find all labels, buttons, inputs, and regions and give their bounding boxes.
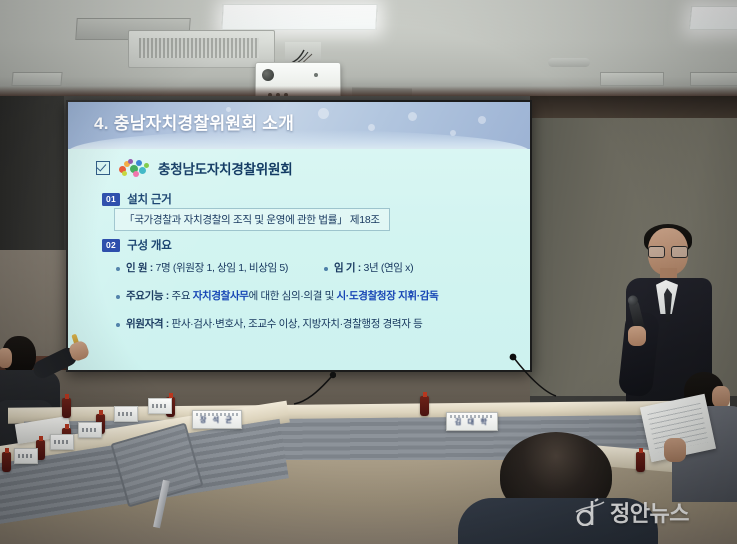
news-watermark: 정안뉴스 — [575, 496, 689, 528]
attendee-left-face — [0, 348, 12, 368]
news-watermark-text: 정안뉴스 — [610, 496, 689, 528]
checkbox-icon — [96, 161, 110, 175]
bullet-dot-icon — [116, 295, 120, 299]
law-citation-box: 「국가경찰과 자치경찰의 조직 및 운영에 관한 법률」 제18조 — [114, 208, 390, 231]
bullet-term-text: 임 기 : 3년 (연임 x) — [334, 262, 413, 275]
section-02-header: 02 구성 개요 — [102, 237, 172, 253]
nameplate-text: 김 대 학 — [455, 417, 489, 427]
ceiling-speaker — [548, 58, 590, 67]
folding-chair — [118, 432, 196, 528]
jeongan-news-logo-icon — [575, 498, 605, 526]
ceiling-light-panel — [221, 4, 377, 30]
section-02-title: 구성 개요 — [127, 237, 172, 253]
slide-header-band: 4. 충남자치경찰위원회 소개 — [68, 102, 530, 149]
drink-bottle — [420, 396, 429, 416]
slide-body: 충청남도자치경찰위원회 01 설치 근거 「국가경찰과 자치경찰의 조직 및 운… — [68, 149, 530, 370]
projector-indicator — [314, 73, 318, 77]
ceiling-air-conditioner — [128, 30, 275, 68]
ceiling-vent — [11, 72, 62, 86]
place-card — [78, 422, 102, 438]
bullet-qualification: 위원자격 : 판사·검사·변호사, 조교수 이상, 지방자치·경찰행정 경력자 … — [116, 318, 422, 331]
bullet-term-label: 임 기 : — [334, 262, 363, 274]
ceiling-vent — [600, 72, 664, 86]
bullet-personnel-text: 인 원 : 7명 (위원장 1, 상임 1, 비상임 5) — [126, 262, 288, 275]
bullet-dot-icon — [324, 267, 328, 271]
gooseneck-microphone — [292, 372, 336, 406]
bullet-personnel-label: 인 원 : — [126, 262, 155, 274]
bullet-dot-icon — [116, 323, 120, 327]
decorative-bubble — [318, 108, 329, 119]
bullet-functions-label: 주요기능 : — [126, 290, 172, 302]
decorative-bubble — [368, 124, 375, 131]
bullet-functions-highlight-1: 자치경찰사무 — [193, 290, 249, 302]
place-card — [148, 398, 172, 414]
bullet-functions: 주요기능 : 주요 자치경찰사무에 대한 심의·의결 및 시·도경찰청장 지휘·… — [116, 290, 438, 303]
photo-scene: 4. 충남자치경찰위원회 소개 — [0, 0, 737, 544]
projection-screen: 4. 충남자치경찰위원회 소개 — [66, 100, 532, 372]
bullet-qualification-text: 위원자격 : 판사·검사·변호사, 조교수 이상, 지방자치·경찰행정 경력자 … — [126, 318, 422, 331]
place-card — [50, 434, 74, 450]
bullet-dot-icon — [116, 267, 120, 271]
bullet-qualification-label: 위원자격 : — [126, 318, 172, 330]
projector-lens — [262, 69, 274, 81]
organization-name: 충청남도자치경찰위원회 — [158, 158, 292, 178]
section-01-header: 01 설치 근거 — [102, 191, 172, 207]
ceiling-light-panel — [689, 6, 737, 30]
slide-title: 4. 충남자치경찰위원회 소개 — [94, 109, 294, 134]
nameplate: 김 대 학 — [446, 412, 498, 431]
slide-content: 4. 충남자치경찰위원회 소개 — [68, 102, 530, 370]
eyeglasses-icon — [648, 246, 686, 256]
section-01-title: 설치 근거 — [127, 191, 172, 207]
bullet-functions-p2: 에 대한 심의·의결 및 — [249, 290, 337, 302]
gooseneck-microphone — [498, 352, 558, 398]
section-number-badge: 01 — [102, 193, 120, 206]
projected-slide: 4. 충남자치경찰위원회 소개 — [68, 102, 530, 370]
ac-grille — [139, 38, 259, 58]
place-card — [114, 406, 138, 422]
bullet-functions-highlight-3: 지휘·감독 — [398, 290, 438, 302]
bullet-qualification-value: 판사·검사·변호사, 조교수 이상, 지방자치·경찰행정 경력자 등 — [172, 318, 423, 330]
nameplate: 장 석 균 — [192, 410, 242, 429]
right-wall-header — [530, 96, 737, 118]
attendee-right-face — [712, 386, 730, 408]
bullet-personnel-value: 7명 (위원장 1, 상임 1, 비상임 5) — [155, 262, 288, 274]
drink-bottle — [62, 398, 71, 418]
decorative-bubble — [478, 116, 486, 124]
bullet-term: 임 기 : 3년 (연임 x) — [324, 262, 413, 275]
chungnam-logo-icon — [117, 158, 151, 178]
nameplate-text: 장 석 균 — [200, 415, 234, 425]
bullet-personnel: 인 원 : 7명 (위원장 1, 상임 1, 비상임 5) — [116, 262, 288, 275]
bullet-functions-highlight-2: 시·도경찰청장 — [337, 290, 396, 302]
chair-back — [110, 423, 203, 508]
bullet-term-value: 3년 (연임 x) — [363, 262, 413, 274]
drink-bottle — [2, 452, 11, 472]
bullet-functions-p1: 주요 — [172, 290, 193, 302]
presenter-hand — [628, 326, 646, 346]
place-card — [14, 448, 38, 464]
section-number-badge: 02 — [102, 239, 120, 252]
attendee-right-hand — [664, 438, 686, 462]
ceiling-vent — [690, 72, 737, 86]
bullet-functions-text: 주요기능 : 주요 자치경찰사무에 대한 심의·의결 및 시·도경찰청장 지휘·… — [126, 290, 438, 303]
organization-row: 충청남도자치경찰위원회 — [96, 158, 292, 178]
decorative-bubble — [408, 112, 417, 121]
